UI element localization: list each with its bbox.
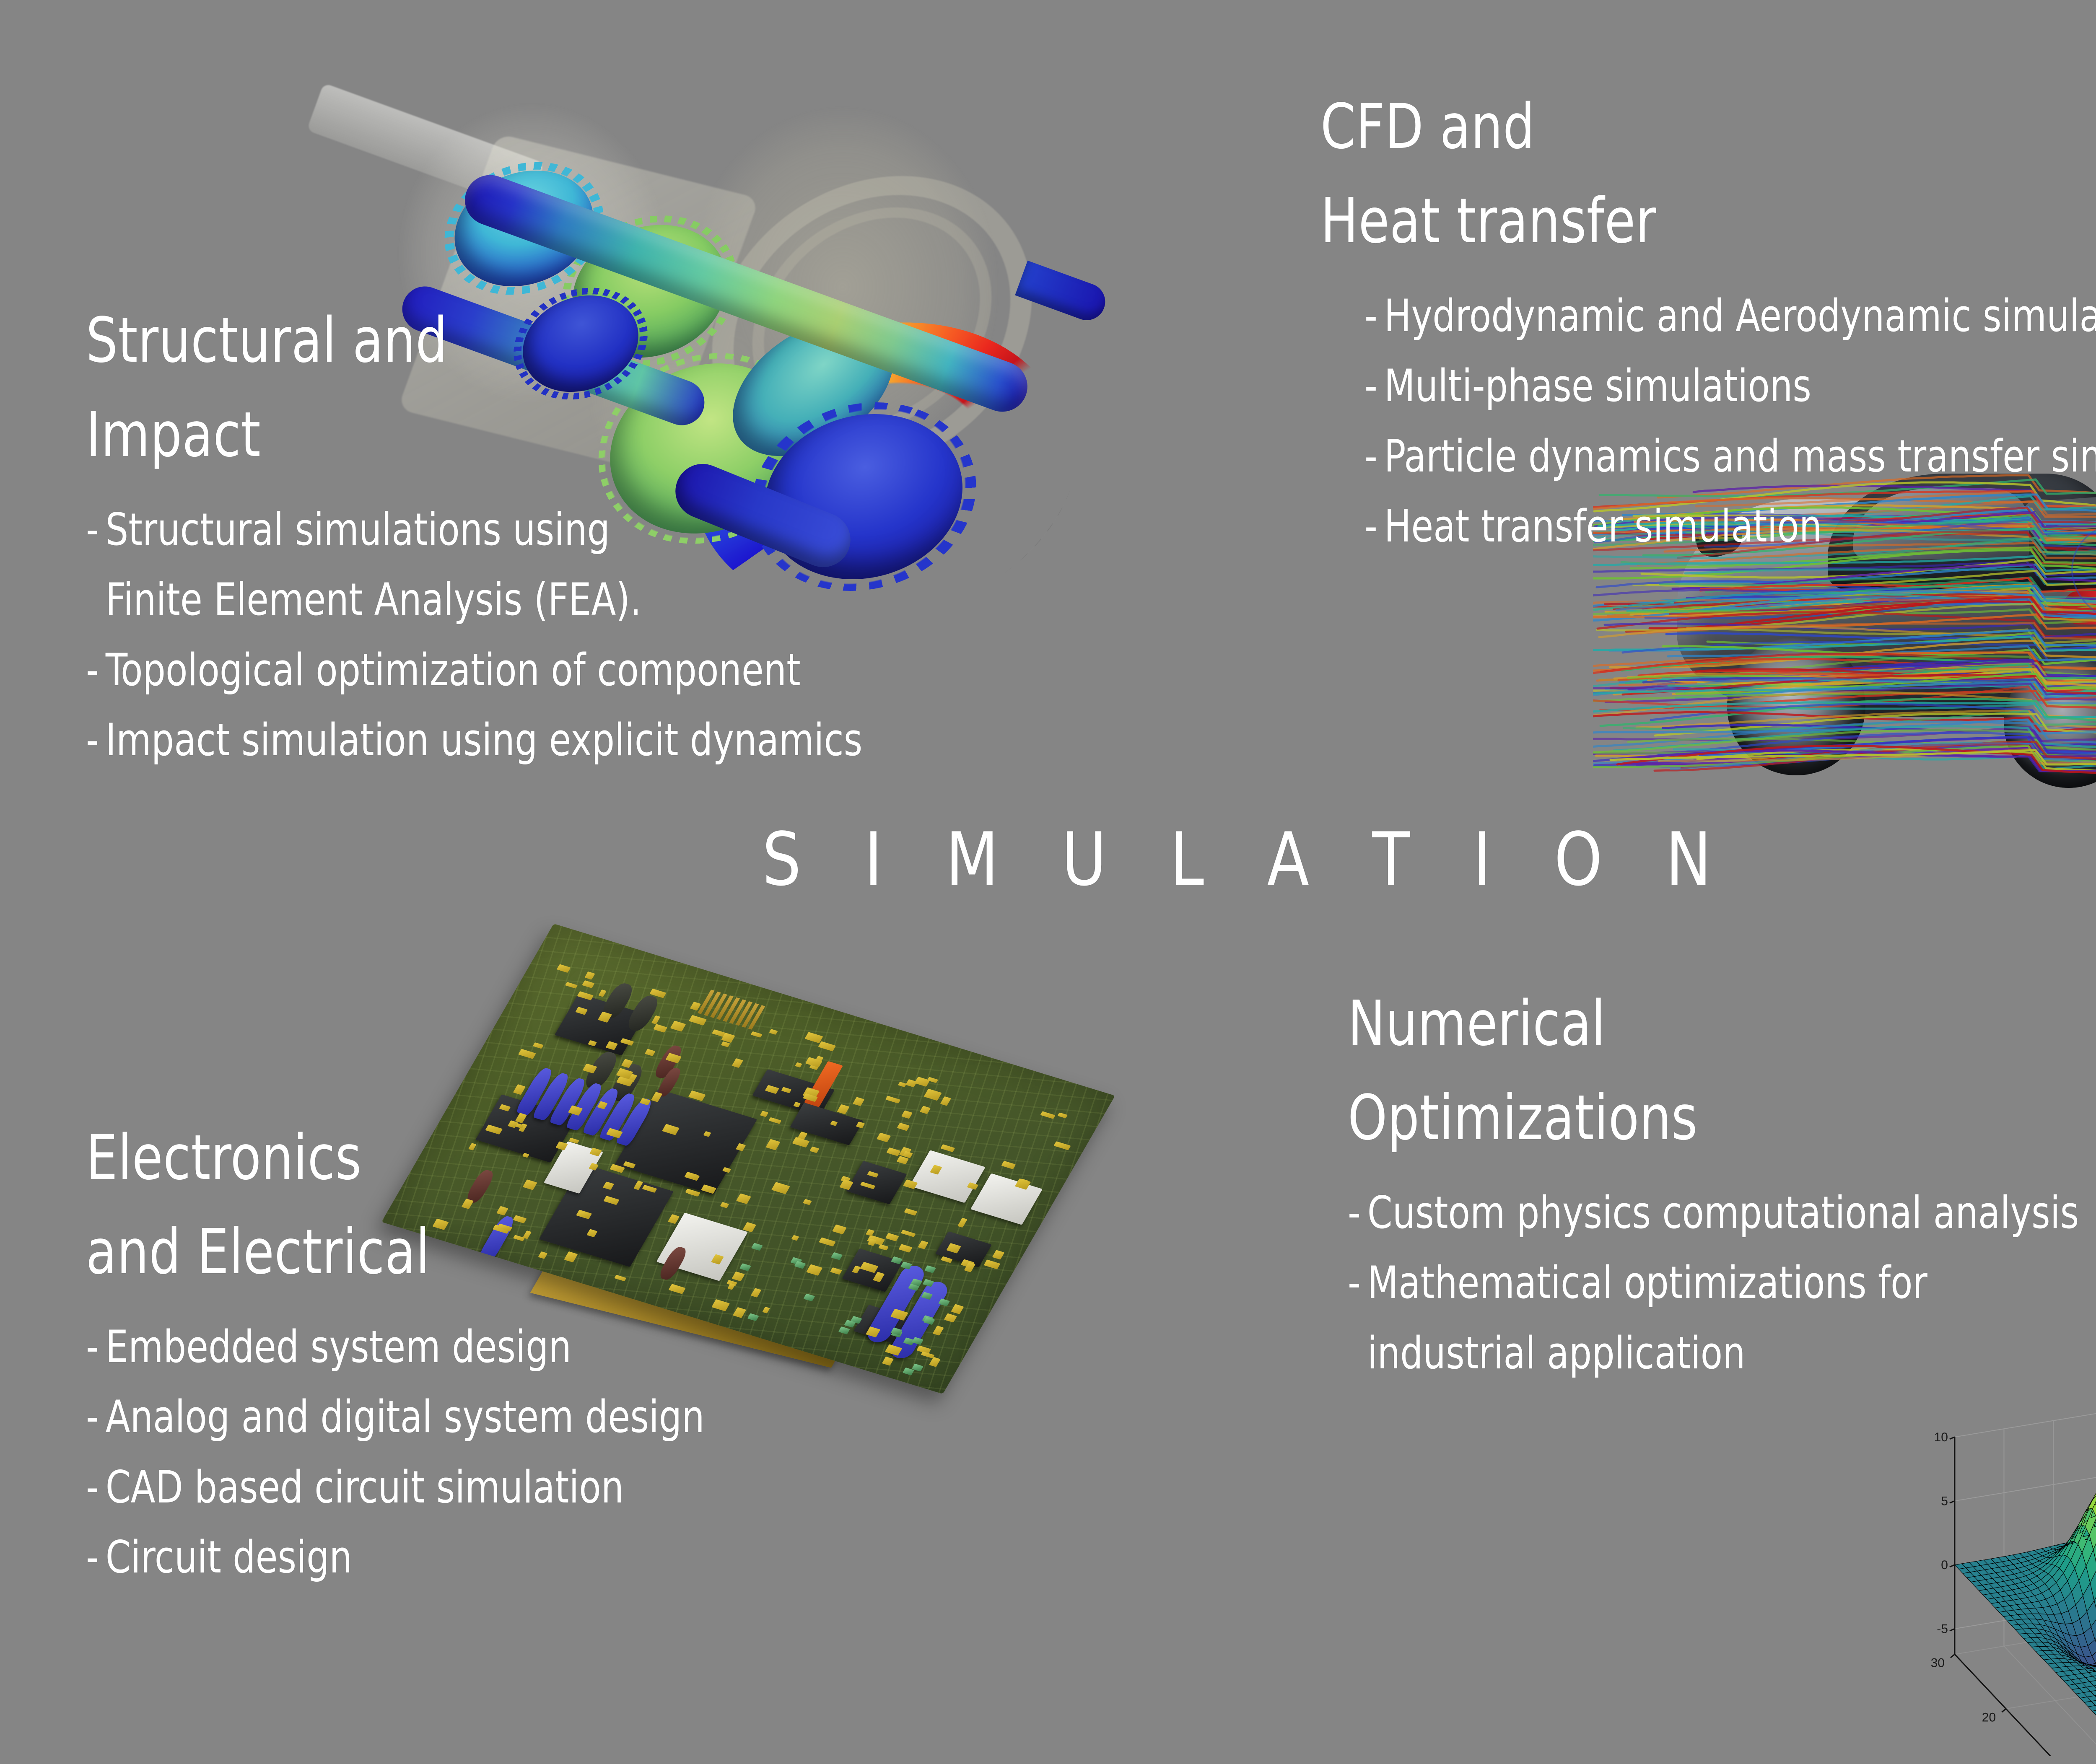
list-item: - Circuit design xyxy=(86,1522,705,1592)
section-numerical-optimizations: Numerical Optimizations - Custom physics… xyxy=(1348,977,2096,1388)
pcb-component xyxy=(809,1146,819,1153)
heading-electronics-line1: Electronics xyxy=(86,1111,705,1205)
pcb-component xyxy=(689,1015,707,1026)
bullet-marker: - xyxy=(86,495,106,565)
pcb-component xyxy=(951,1304,964,1314)
pcb-component xyxy=(651,1015,661,1024)
simulation-infographic-slide: -5051005101520250102030 Structural and I… xyxy=(0,0,2096,1764)
list-item: - Mathematical optimizations for xyxy=(1348,1248,2079,1318)
pcb-component xyxy=(897,1123,910,1131)
pcb-component xyxy=(795,1062,802,1068)
pcb-component xyxy=(992,1250,1005,1259)
pcb-component xyxy=(901,1230,916,1237)
heading-electronics-line2: and Electrical xyxy=(86,1205,705,1299)
bullet-marker: - xyxy=(1364,281,1384,351)
list-item: - Heat transfer simulation xyxy=(1364,491,2096,561)
pcb-component xyxy=(830,1267,842,1275)
pcb-component xyxy=(882,1357,894,1366)
heading-numerical-line1: Numerical xyxy=(1348,977,2079,1071)
svg-text:10: 10 xyxy=(1934,1430,1948,1444)
list-item-label: Analog and digital system design xyxy=(106,1382,705,1452)
pcb-component xyxy=(901,1110,913,1119)
pcb-component xyxy=(791,1235,799,1241)
pcb-component xyxy=(970,1173,1043,1225)
pcb-component xyxy=(565,982,578,989)
pcb-component xyxy=(1057,1112,1067,1118)
pcb-component xyxy=(878,1244,889,1251)
bullet-marker: - xyxy=(86,1312,106,1382)
list-item: - Analog and digital system design xyxy=(86,1382,705,1452)
heading-numerical-line2: Optimizations xyxy=(1348,1071,2079,1165)
svg-text:20: 20 xyxy=(1982,1710,1996,1724)
list-item-label: CAD based circuit simulation xyxy=(106,1452,624,1522)
bullet-marker: - xyxy=(1348,1248,1367,1318)
pcb-component xyxy=(837,1104,849,1114)
bullet-marker: - xyxy=(1364,421,1384,491)
section-structural-and-impact: Structural and Impact - Structural simul… xyxy=(86,293,949,775)
bullet-list-structural: - Structural simulations using Finite El… xyxy=(86,495,949,775)
pcb-component xyxy=(792,1137,810,1148)
list-item: - Structural simulations using xyxy=(86,495,862,565)
pcb-component xyxy=(940,1096,951,1106)
bullet-marker: - xyxy=(86,705,106,775)
pcb-component xyxy=(957,1218,968,1228)
pcb-component xyxy=(929,1357,941,1367)
pcb-component xyxy=(732,1058,743,1068)
pcb-component xyxy=(886,1148,901,1156)
section-electronics-and-electrical: Electronics and Electrical - Embedded sy… xyxy=(86,1111,773,1593)
list-item-label: Hydrodynamic and Aerodynamic simulation xyxy=(1384,281,2096,351)
list-item: - Topological optimization of component xyxy=(86,635,862,705)
bullet-marker: - xyxy=(86,1522,106,1592)
pcb-component xyxy=(806,1264,822,1276)
list-item-label: Multi-phase simulations xyxy=(1384,351,1811,421)
svg-text:30: 30 xyxy=(1931,1656,1945,1670)
bullet-marker: - xyxy=(1364,351,1384,421)
list-item-label: Impact simulation using explicit dynamic… xyxy=(106,705,863,775)
list-item-continuation: industrial application xyxy=(1348,1318,2079,1388)
section-cfd-and-heat-transfer: CFD and Heat transfer - Hydrodynamic and… xyxy=(1320,80,2096,562)
list-item-label: Heat transfer simulation xyxy=(1384,491,1822,561)
page-title: S I M U L A T I O N xyxy=(87,817,2096,902)
pcb-component xyxy=(933,1326,944,1336)
list-item-label: Structural simulations using xyxy=(106,495,610,565)
pcb-component xyxy=(866,1229,874,1236)
list-item-label: Circuit design xyxy=(106,1522,352,1592)
list-item: - Hydrodynamic and Aerodynamic simulatio… xyxy=(1364,281,2096,351)
bullet-marker: - xyxy=(86,1382,106,1452)
bullet-marker: - xyxy=(86,635,106,705)
list-item-label: Finite Element Analysis (FEA). xyxy=(106,565,641,635)
pcb-component xyxy=(898,1082,907,1087)
list-item-label: Custom physics computational analysis xyxy=(1367,1178,2079,1248)
heading-structural-line1: Structural and xyxy=(86,293,862,388)
list-item: - Multi-phase simulations xyxy=(1364,351,2096,421)
pcb-component xyxy=(804,1032,823,1043)
pcb-component xyxy=(582,980,594,988)
pcb-component xyxy=(818,1041,836,1051)
pcb-component xyxy=(846,1161,907,1204)
svg-text:5: 5 xyxy=(1941,1494,1948,1508)
bullet-marker: - xyxy=(1348,1178,1367,1248)
pcb-component xyxy=(557,964,571,973)
pcb-component xyxy=(584,971,595,980)
list-item-continuation: Finite Element Analysis (FEA). xyxy=(86,565,862,635)
list-item-label: Particle dynamics and mass transfer simu… xyxy=(1384,421,2096,491)
pcb-component xyxy=(832,1224,847,1234)
pcb-component xyxy=(924,1265,936,1273)
list-item-label: industrial application xyxy=(1367,1318,1746,1388)
pcb-component xyxy=(920,1106,931,1114)
list-item-label: Topological optimization of component xyxy=(106,635,801,705)
pcb-component xyxy=(769,1029,778,1035)
bullet-list-cfd: - Hydrodynamic and Aerodynamic simulatio… xyxy=(1320,281,2096,562)
list-item: - Embedded system design xyxy=(86,1312,705,1382)
bullet-marker: - xyxy=(1364,491,1384,561)
bullet-marker: - xyxy=(86,1452,106,1522)
heading-structural-line2: Impact xyxy=(86,388,862,482)
pcb-component xyxy=(853,1097,864,1106)
pcb-component xyxy=(598,989,607,997)
list-item-label: Embedded system design xyxy=(106,1312,571,1382)
pcb-component xyxy=(918,1241,928,1249)
pcb-component xyxy=(1053,1141,1071,1150)
pcb-component xyxy=(645,1049,656,1056)
pcb-component xyxy=(533,1042,544,1049)
pcb-component xyxy=(518,1049,536,1059)
pcb-component xyxy=(885,1096,900,1103)
pcb-component xyxy=(751,1031,763,1038)
pcb-component xyxy=(653,1024,667,1033)
pcb-component xyxy=(513,1084,526,1095)
list-item-label: Mathematical optimizations for xyxy=(1367,1248,1927,1318)
pcb-component xyxy=(803,1199,812,1205)
svg-text:-5: -5 xyxy=(1937,1622,1948,1636)
heading-cfd-line1: CFD and xyxy=(1320,80,2096,174)
pcb-component xyxy=(898,1244,913,1253)
pcb-component xyxy=(877,1132,891,1142)
pcb-component xyxy=(885,1233,899,1241)
pcb-component xyxy=(819,1237,836,1246)
pcb-component xyxy=(831,1252,843,1260)
pcb-component xyxy=(803,1293,815,1301)
bullet-list-electronics: - Embedded system design - Analog and di… xyxy=(86,1312,773,1593)
pcb-component xyxy=(909,1150,985,1203)
pcb-component xyxy=(944,1313,957,1322)
list-item: - Particle dynamics and mass transfer si… xyxy=(1364,421,2096,491)
bullet-list-numerical: - Custom physics computational analysis … xyxy=(1348,1178,2096,1388)
list-item: - Custom physics computational analysis xyxy=(1348,1178,2079,1248)
pcb-component xyxy=(940,1144,955,1152)
pcb-component xyxy=(924,1089,942,1101)
pcb-component xyxy=(794,1261,806,1269)
pcb-component xyxy=(1040,1111,1055,1119)
heading-cfd-line2: Heat transfer xyxy=(1320,174,2096,268)
matlab-peaks-surface-plot: -5051005101520250102030 xyxy=(1836,1333,2096,1756)
pcb-component xyxy=(670,1021,686,1031)
svg-text:0: 0 xyxy=(1941,1558,1948,1572)
pcb-component xyxy=(984,1259,1001,1269)
list-item: - Impact simulation using explicit dynam… xyxy=(86,705,862,775)
pcb-component xyxy=(771,1182,790,1194)
list-item: - CAD based circuit simulation xyxy=(86,1452,705,1522)
pcb-component xyxy=(1001,1161,1016,1169)
pcb-component xyxy=(838,1326,850,1334)
pcb-component xyxy=(904,1208,917,1216)
